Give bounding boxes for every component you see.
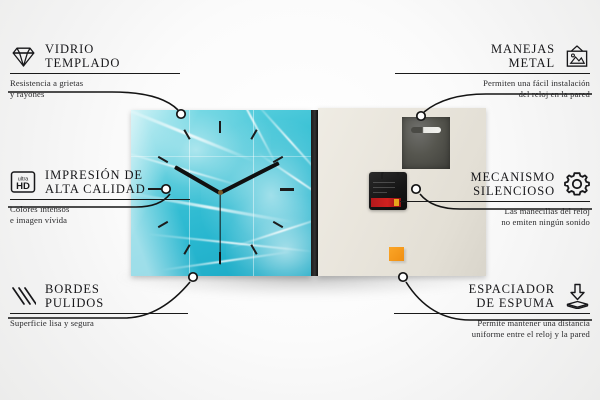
feature-title-line1: MANEJAS <box>491 42 555 56</box>
feature-title-line2: DE ESPUMA <box>469 296 555 310</box>
feature-divider <box>10 73 180 74</box>
feature-desc-line2: no emiten ningún sonido <box>400 217 590 228</box>
polished-edges-icon <box>10 283 36 309</box>
feature-desc-line1: Permiten una fácil instalación <box>395 78 590 89</box>
feature-title-line1: ESPACIADOR <box>469 282 555 296</box>
feature-divider <box>394 313 590 314</box>
feature-desc-line1: Permite mantener una distancia <box>394 318 590 329</box>
feature-title-line1: BORDES <box>45 282 104 296</box>
feature-mecanismo-silencioso: MECANISMO SILENCIOSO Las manecillas del … <box>400 170 590 228</box>
feature-desc-line1: Superficie lisa y segura <box>10 318 188 329</box>
feature-divider <box>400 201 590 202</box>
feature-espaciador-espuma: ESPACIADOR DE ESPUMA Permite mantener un… <box>394 282 590 340</box>
feature-impresion-hd: ultra HD IMPRESIÓN DE ALTA CALIDAD Color… <box>10 168 190 226</box>
feature-vidrio-templado: VIDRIO TEMPLADO Resistencia a grietas y … <box>10 42 180 100</box>
feature-desc-line1: Colores intensos <box>10 204 190 215</box>
connector-dot-vidrio-templado <box>177 110 185 118</box>
connector-dot-manejas-metal <box>417 112 425 120</box>
feature-divider <box>395 73 590 74</box>
feature-title-line1: MECANISMO <box>471 170 556 184</box>
wall-hanger-icon <box>564 43 590 69</box>
feature-title-line2: PULIDOS <box>45 296 104 310</box>
connector-dot-espaciador <box>399 273 407 281</box>
feature-title-line1: IMPRESIÓN DE <box>45 168 146 182</box>
feature-desc-line2: del reloj en la pared <box>395 89 590 100</box>
feature-title-line2: ALTA CALIDAD <box>45 182 146 196</box>
gear-icon <box>564 171 590 197</box>
feature-title-line1: VIDRIO <box>45 42 120 56</box>
foam-spacer-icon <box>564 283 590 309</box>
feature-desc-line1: Las manecillas del reloj <box>400 206 590 217</box>
feature-desc-line1: Resistencia a grietas <box>10 78 180 89</box>
product-infographic: VIDRIO TEMPLADO Resistencia a grietas y … <box>0 0 600 400</box>
connector-dot-bordes-pulidos <box>189 273 197 281</box>
feature-bordes-pulidos: BORDES PULIDOS Superficie lisa y segura <box>10 282 188 329</box>
feature-divider <box>10 199 190 200</box>
feature-title-line2: SILENCIOSO <box>471 184 556 198</box>
feature-divider <box>10 313 188 314</box>
feature-desc-line2: e imagen vívida <box>10 215 190 226</box>
ultra-hd-icon: ultra HD <box>10 169 36 195</box>
feature-manejas-metal: MANEJAS METAL Permiten una fácil instala… <box>395 42 590 100</box>
diamond-icon <box>10 43 36 69</box>
feature-desc-line2: y rayones <box>10 89 180 100</box>
feature-title-line2: TEMPLADO <box>45 56 120 70</box>
svg-text:HD: HD <box>16 181 30 192</box>
feature-desc-line2: uniforme entre el reloj y la pared <box>394 329 590 340</box>
feature-title-line2: METAL <box>491 56 555 70</box>
